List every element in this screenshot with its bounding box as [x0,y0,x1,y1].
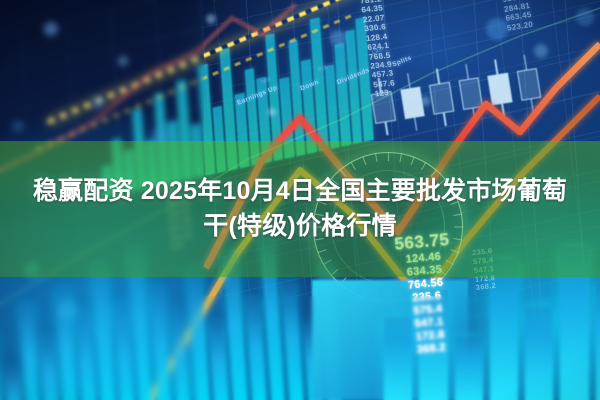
financial-banner-image: 122435.5781.264.3522.07330.6128.4624.176… [0,0,600,400]
vignette [0,0,600,400]
